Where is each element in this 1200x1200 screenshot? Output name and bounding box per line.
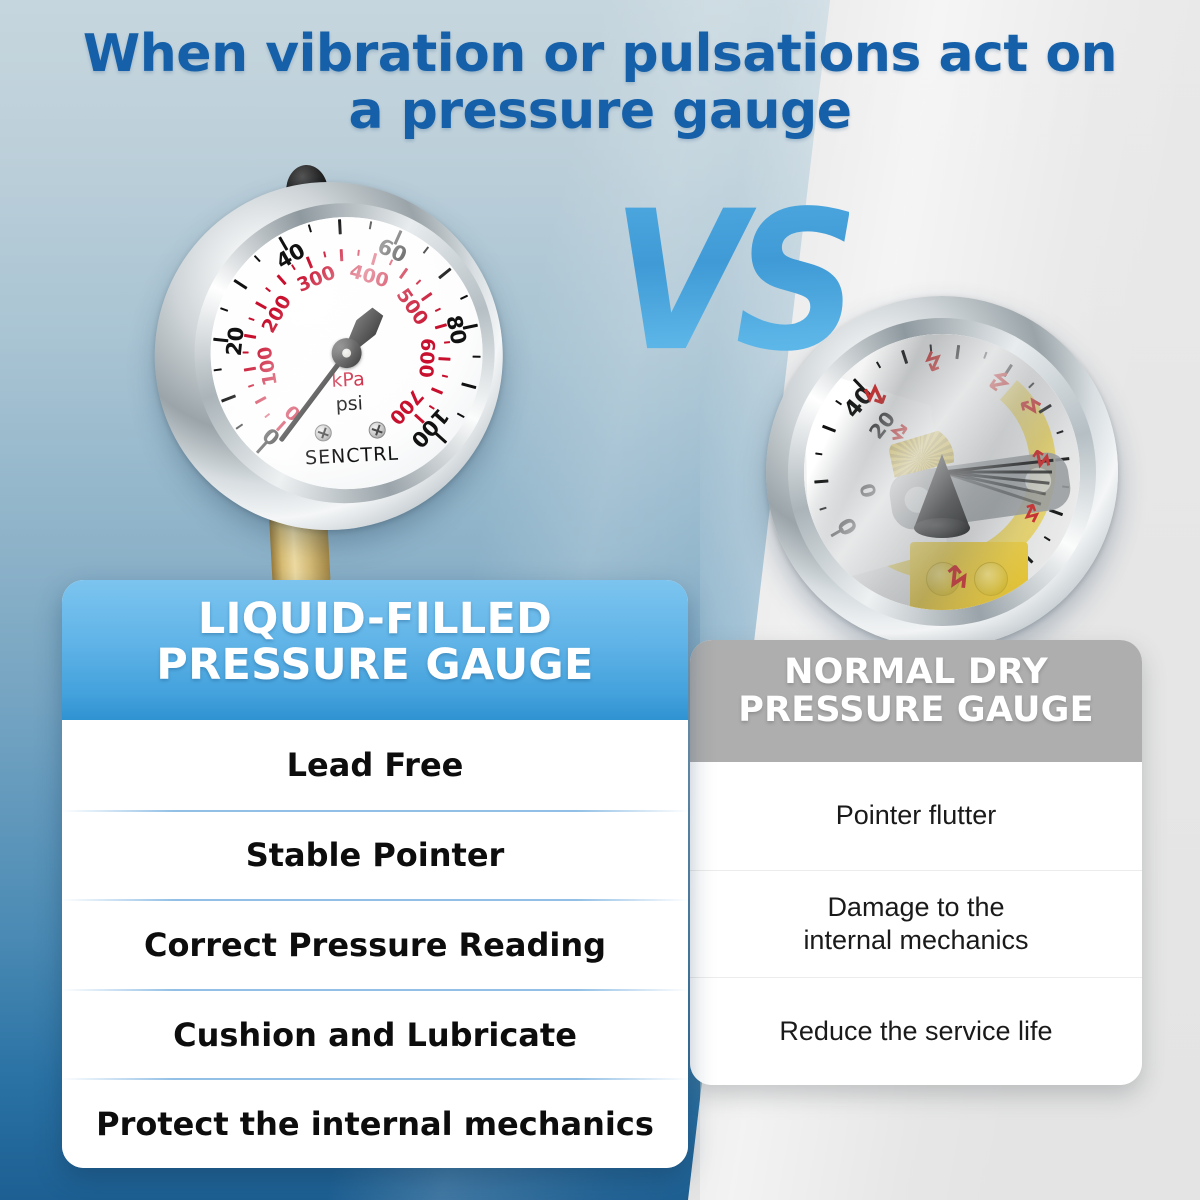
infographic-canvas: When vibration or pulsations act on a pr…: [0, 0, 1200, 1200]
normal-dry-gauge-feature-list: Pointer flutterDamage to theinternal mec…: [690, 762, 1142, 1085]
liquid-gauge-feature-row-label: Stable Pointer: [62, 836, 688, 874]
gauge-tick: [815, 452, 822, 454]
normal-dry-gauge-card-header: NORMAL DRY PRESSURE GAUGE: [690, 640, 1142, 762]
liquid-filled-gauge-image: 020406080100 0100200300400500600700 kPa …: [139, 151, 522, 609]
liquid-filled-gauge-feature-list: Lead FreeStable PointerCorrect Pressure …: [62, 720, 688, 1168]
gauge-tick: [814, 478, 828, 482]
vibration-spark-icon: ↯: [943, 559, 972, 593]
liquid-gauge-feature-row: Cushion and Lubricate: [62, 989, 688, 1079]
gauge-tick: [473, 356, 481, 358]
liquid-gauge-feature-row-label: Correct Pressure Reading: [62, 926, 688, 964]
liquid-gauge-feature-row-label: Protect the internal mechanics: [62, 1105, 688, 1143]
liquid-gauge-feature-row: Correct Pressure Reading: [62, 899, 688, 989]
page-title-line-1: When vibration or pulsations act on: [83, 24, 1117, 84]
dry-gauge-feature-row: Pointer flutter: [690, 762, 1142, 870]
gauge-tick: [214, 368, 222, 371]
gauge-tick: [244, 365, 256, 370]
normal-dry-gauge-title-line-1: NORMAL DRY: [690, 654, 1142, 692]
page-title: When vibration or pulsations act on a pr…: [0, 26, 1200, 140]
liquid-gauge-feature-row-label: Cushion and Lubricate: [62, 1016, 688, 1054]
liquid-filled-gauge-title-line-1: LIQUID-FILLED: [62, 596, 688, 642]
normal-dry-gauge-card: NORMAL DRY PRESSURE GAUGE Pointer flutte…: [690, 640, 1142, 1085]
page-title-line-2: a pressure gauge: [0, 83, 1200, 140]
liquid-gauge-feature-row-label: Lead Free: [62, 746, 688, 784]
vs-badge: VS: [612, 186, 849, 379]
liquid-filled-gauge-card: LIQUID-FILLED PRESSURE GAUGE Lead FreeSt…: [62, 580, 688, 1168]
normal-dry-gauge-title-line-2: PRESSURE GAUGE: [690, 692, 1142, 730]
liquid-filled-gauge-title-line-2: PRESSURE GAUGE: [62, 642, 688, 688]
liquid-gauge-feature-row: Protect the internal mechanics: [62, 1078, 688, 1168]
gauge-tick: [341, 249, 345, 261]
dry-gauge-feature-row-label: Reduce the service life: [690, 1015, 1142, 1048]
flutter-pointer-hub-base: [914, 518, 970, 538]
dry-gauge-feature-row-label: Pointer flutter: [690, 799, 1142, 832]
liquid-gauge-feature-row: Stable Pointer: [62, 810, 688, 900]
gauge-scale-label: 20: [235, 312, 262, 344]
liquid-filled-gauge-card-header: LIQUID-FILLED PRESSURE GAUGE: [62, 580, 688, 720]
dry-gauge-feature-row: Reduce the service life: [690, 977, 1142, 1085]
liquid-gauge-feature-row: Lead Free: [62, 720, 688, 810]
dry-gauge-feature-row: Damage to theinternal mechanics: [690, 870, 1142, 978]
dry-gauge-feature-row-label: Damage to theinternal mechanics: [690, 891, 1142, 957]
